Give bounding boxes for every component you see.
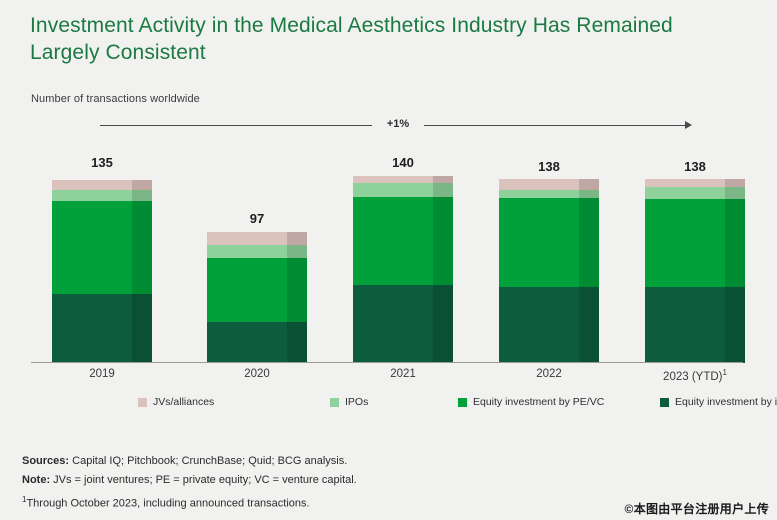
page-title: Investment Activity in the Medical Aesth… bbox=[30, 12, 742, 66]
x-axis-label: 2023 (YTD)1 bbox=[645, 368, 745, 383]
bar-total-label: 140 bbox=[353, 155, 453, 170]
bar-segment-ipo[interactable] bbox=[645, 187, 745, 199]
x-axis-label: 2022 bbox=[499, 368, 599, 380]
legend-item[interactable]: IPOs bbox=[330, 396, 368, 408]
legend-swatch-icon bbox=[330, 398, 339, 407]
bar-total-label: 138 bbox=[499, 159, 599, 174]
note-label: Note: bbox=[22, 474, 50, 486]
legend-label: IPOs bbox=[345, 396, 368, 408]
x-axis-line bbox=[31, 362, 743, 363]
chart-subtitle: Number of transactions worldwide bbox=[31, 93, 200, 105]
bar-segment-ind[interactable] bbox=[353, 285, 453, 363]
arrow-right-icon bbox=[685, 121, 692, 129]
bar-segment-jv[interactable] bbox=[499, 179, 599, 190]
bar-segment-pevc[interactable] bbox=[52, 201, 152, 294]
bar-segment-jv[interactable] bbox=[353, 176, 453, 183]
watermark: ©本图由平台注册用户上传 bbox=[625, 500, 769, 517]
legend-label: Equity investment by industrial player bbox=[675, 396, 777, 408]
x-axis-label-footnote: 1 bbox=[722, 368, 726, 377]
bar-segment-ipo[interactable] bbox=[499, 190, 599, 198]
bar-segment-jv[interactable] bbox=[645, 179, 745, 187]
bar-segment-pevc[interactable] bbox=[207, 258, 307, 322]
x-axis-label: 2019 bbox=[52, 368, 152, 380]
note-text: JVs = joint ventures; PE = private equit… bbox=[50, 474, 357, 486]
x-axis-label: 2020 bbox=[207, 368, 307, 380]
bar-segment-pevc[interactable] bbox=[353, 197, 453, 285]
footnote-note: Note: JVs = joint ventures; PE = private… bbox=[22, 471, 582, 490]
footnote-one: 1Through October 2023, including announc… bbox=[22, 490, 582, 514]
bar-segment-jv[interactable] bbox=[207, 232, 307, 245]
bar-segment-ind[interactable] bbox=[645, 287, 745, 363]
bar-total-label: 135 bbox=[52, 155, 152, 170]
legend-item[interactable]: Equity investment by industrial player bbox=[660, 396, 777, 408]
bar-segment-pevc[interactable] bbox=[499, 198, 599, 287]
cagr-annotation: +1% bbox=[100, 118, 692, 134]
cagr-line-left bbox=[100, 125, 372, 126]
legend-swatch-icon bbox=[458, 398, 467, 407]
legend-item[interactable]: JVs/alliances bbox=[138, 396, 214, 408]
legend-swatch-icon bbox=[660, 398, 669, 407]
plot-area bbox=[31, 150, 743, 363]
bar-segment-ipo[interactable] bbox=[207, 245, 307, 258]
legend-swatch-icon bbox=[138, 398, 147, 407]
bar-stack bbox=[499, 179, 599, 363]
bar-stack bbox=[645, 179, 745, 363]
legend-item[interactable]: Equity investment by PE/VC bbox=[458, 396, 604, 408]
bar-total-label: 97 bbox=[207, 211, 307, 226]
bar-segment-ind[interactable] bbox=[52, 294, 152, 363]
legend-label: Equity investment by PE/VC bbox=[473, 396, 604, 408]
sources-text: Capital IQ; Pitchbook; CrunchBase; Quid;… bbox=[69, 455, 347, 467]
footnote-one-text: Through October 2023, including announce… bbox=[26, 498, 309, 510]
legend-label: JVs/alliances bbox=[153, 396, 214, 408]
bar-segment-pevc[interactable] bbox=[645, 199, 745, 287]
bar-total-label: 138 bbox=[645, 159, 745, 174]
footnotes: Sources: Capital IQ; Pitchbook; CrunchBa… bbox=[22, 452, 582, 514]
bar-segment-ipo[interactable] bbox=[52, 190, 152, 201]
x-axis-label: 2021 bbox=[353, 368, 453, 380]
chart-page: Investment Activity in the Medical Aesth… bbox=[0, 0, 777, 520]
cagr-line-right bbox=[424, 125, 686, 126]
chart-legend: JVs/alliancesIPOsEquity investment by PE… bbox=[138, 396, 678, 412]
sources-label: Sources: bbox=[22, 455, 69, 467]
bar-segment-jv[interactable] bbox=[52, 180, 152, 190]
bar-segment-ind[interactable] bbox=[207, 322, 307, 363]
bar-segment-ind[interactable] bbox=[499, 287, 599, 363]
cagr-label: +1% bbox=[376, 118, 420, 130]
bar-segment-ipo[interactable] bbox=[353, 183, 453, 197]
footnote-sources: Sources: Capital IQ; Pitchbook; CrunchBa… bbox=[22, 452, 582, 471]
bar-stack bbox=[52, 180, 152, 363]
bar-stack bbox=[353, 176, 453, 363]
bar-stack bbox=[207, 232, 307, 363]
